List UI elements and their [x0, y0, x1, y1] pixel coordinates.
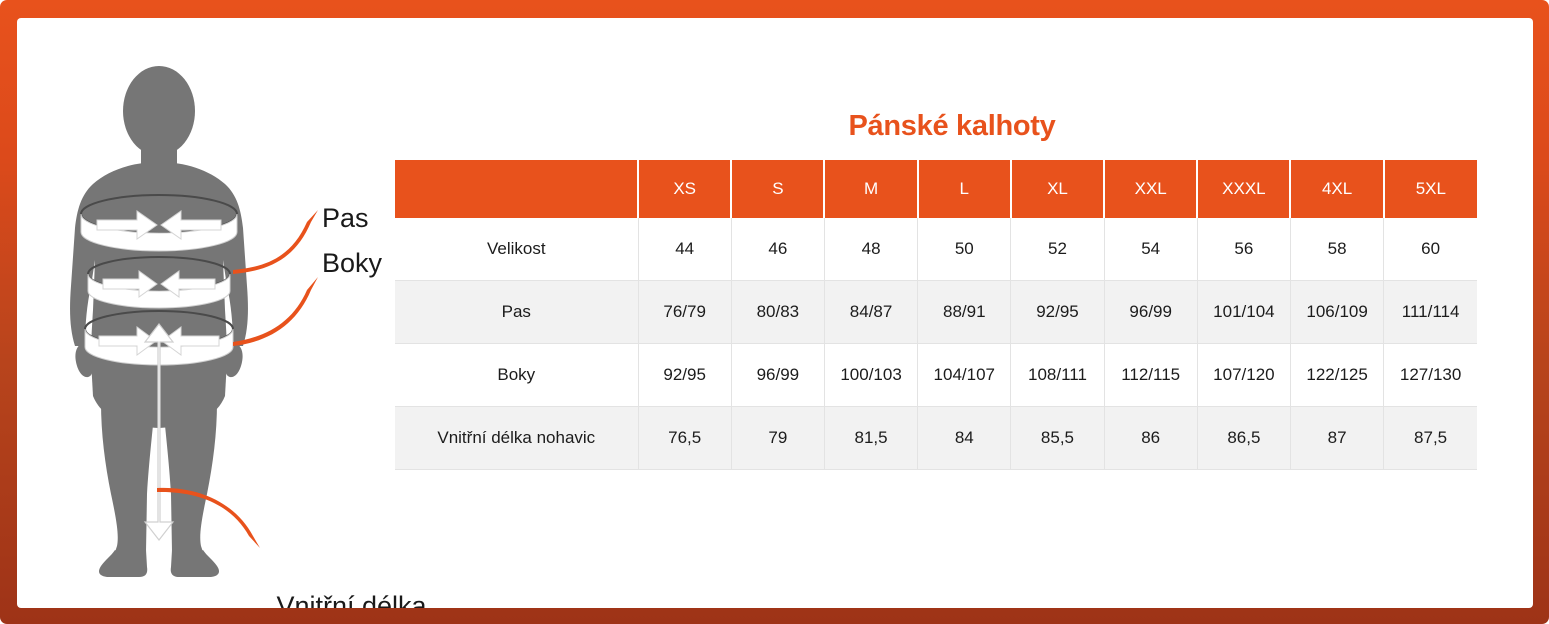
cell: 106/109: [1290, 281, 1383, 344]
label-waist: Pas: [322, 202, 369, 235]
cell: 112/115: [1104, 344, 1197, 407]
size-header-xxl: XXL: [1104, 160, 1197, 218]
cell: 88/91: [918, 281, 1011, 344]
cell: 44: [638, 218, 731, 281]
size-header-m: M: [824, 160, 917, 218]
table-row: Vnitřní délka nohavic 76,5 79 81,5 84 85…: [395, 407, 1477, 470]
cell: 87: [1290, 407, 1383, 470]
cell: 127/130: [1384, 344, 1477, 407]
cell: 60: [1384, 218, 1477, 281]
cell: 52: [1011, 218, 1104, 281]
orange-frame: Pas Boky Vnitřní délka nohavic Pánské ka…: [0, 0, 1549, 624]
cell: 56: [1197, 218, 1290, 281]
label-inseam: Vnitřní délka nohavic: [249, 524, 454, 608]
size-header-s: S: [731, 160, 824, 218]
size-header-xxxl: XXXL: [1197, 160, 1290, 218]
cell: 86,5: [1197, 407, 1290, 470]
cell: 50: [918, 218, 1011, 281]
size-header-l: L: [918, 160, 1011, 218]
male-body-silhouette-icon: [57, 24, 417, 594]
cell: 96/99: [1104, 281, 1197, 344]
label-hips: Boky: [322, 247, 382, 280]
size-header-5xl: 5XL: [1384, 160, 1477, 218]
table-corner-cell: [395, 160, 638, 218]
cell: 84/87: [824, 281, 917, 344]
cell: 79: [731, 407, 824, 470]
cell: 92/95: [1011, 281, 1104, 344]
table-row: Boky 92/95 96/99 100/103 104/107 108/111…: [395, 344, 1477, 407]
cell: 86: [1104, 407, 1197, 470]
size-table: XS S M L XL XXL XXXL 4XL 5XL Velikost 44: [395, 160, 1477, 470]
measurement-illustration: Pas Boky Vnitřní délka nohavic: [57, 24, 417, 594]
cell: 122/125: [1290, 344, 1383, 407]
cell: 81,5: [824, 407, 917, 470]
size-header-4xl: 4XL: [1290, 160, 1383, 218]
label-inseam-line1: Vnitřní délka: [249, 590, 454, 608]
row-label-boky: Boky: [395, 344, 638, 407]
row-label-pas: Pas: [395, 281, 638, 344]
cell: 85,5: [1011, 407, 1104, 470]
cell: 87,5: [1384, 407, 1477, 470]
cell: 108/111: [1011, 344, 1104, 407]
cell: 101/104: [1197, 281, 1290, 344]
table-row: Velikost 44 46 48 50 52 54 56 58 60: [395, 218, 1477, 281]
content-canvas: Pas Boky Vnitřní délka nohavic Pánské ka…: [17, 18, 1533, 608]
table-header-row: XS S M L XL XXL XXXL 4XL 5XL: [395, 160, 1477, 218]
cell: 92/95: [638, 344, 731, 407]
cell: 46: [731, 218, 824, 281]
row-label-inseam: Vnitřní délka nohavic: [395, 407, 638, 470]
cell: 104/107: [918, 344, 1011, 407]
cell: 54: [1104, 218, 1197, 281]
cell: 48: [824, 218, 917, 281]
size-header-xs: XS: [638, 160, 731, 218]
row-label-velikost: Velikost: [395, 218, 638, 281]
cell: 76/79: [638, 281, 731, 344]
size-header-xl: XL: [1011, 160, 1104, 218]
cell: 84: [918, 407, 1011, 470]
page-title: Pánské kalhoty: [411, 110, 1493, 143]
cell: 100/103: [824, 344, 917, 407]
size-table-container: XS S M L XL XXL XXXL 4XL 5XL Velikost 44: [395, 160, 1477, 470]
cell: 111/114: [1384, 281, 1477, 344]
cell: 58: [1290, 218, 1383, 281]
cell: 76,5: [638, 407, 731, 470]
table-row: Pas 76/79 80/83 84/87 88/91 92/95 96/99 …: [395, 281, 1477, 344]
cell: 80/83: [731, 281, 824, 344]
cell: 107/120: [1197, 344, 1290, 407]
cell: 96/99: [731, 344, 824, 407]
